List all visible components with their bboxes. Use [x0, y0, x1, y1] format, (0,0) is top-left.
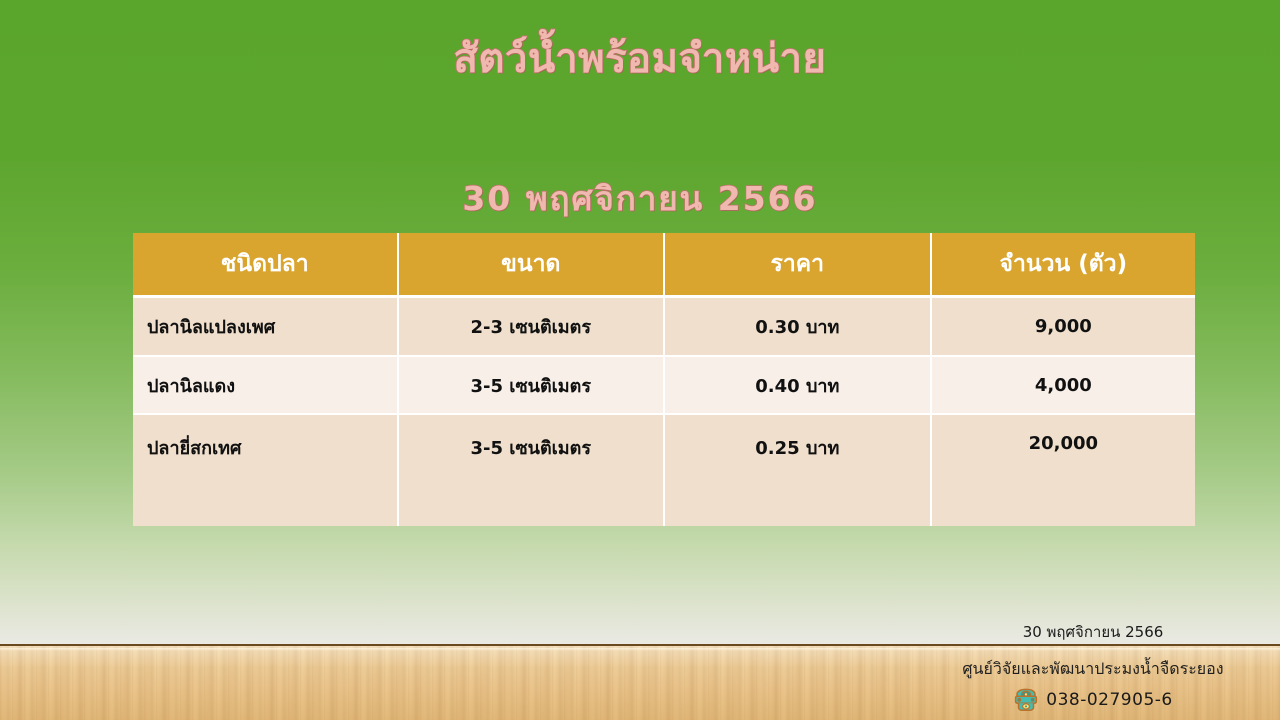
column-header-quantity: จำนวน (ตัว): [932, 233, 1195, 298]
cell-size: 3-5 เซนติเมตร: [399, 415, 666, 526]
cell-quantity: 20,000: [932, 415, 1195, 526]
footer-date: 30 พฤศจิกายน 2566: [928, 620, 1258, 644]
slide-canvas: สัตว์น้ำพร้อมจำหน่าย 30 พฤศจิกายน 2566 ช…: [0, 0, 1280, 720]
cell-price: 0.40 บาท: [665, 357, 932, 415]
cell-species: ปลานิลแดง: [133, 357, 399, 415]
table-row: ปลายี่สกเทศ 3-5 เซนติเมตร 0.25 บาท 20,00…: [133, 415, 1195, 526]
column-header-species: ชนิดปลา: [133, 233, 399, 298]
footer-phone-number: 038-027905-6: [1046, 690, 1172, 710]
cell-quantity: 4,000: [932, 357, 1195, 415]
column-header-price: ราคา: [665, 233, 932, 298]
table-row: ปลานิลแปลงเพศ 2-3 เซนติเมตร 0.30 บาท 9,0…: [133, 298, 1195, 357]
title-block: สัตว์น้ำพร้อมจำหน่าย: [0, 34, 1280, 84]
footer-phone-line: 038-027905-6: [928, 688, 1258, 712]
cell-size: 3-5 เซนติเมตร: [399, 357, 666, 415]
table-header-row: ชนิดปลา ขนาด ราคา จำนวน (ตัว): [133, 233, 1195, 298]
cell-price: 0.25 บาท: [665, 415, 932, 526]
column-header-size: ขนาด: [399, 233, 666, 298]
cell-size: 2-3 เซนติเมตร: [399, 298, 666, 357]
cell-price: 0.30 บาท: [665, 298, 932, 357]
table-header: ชนิดปลา ขนาด ราคา จำนวน (ตัว): [133, 233, 1195, 298]
fish-stock-table-wrapper: ชนิดปลา ขนาด ราคา จำนวน (ตัว) ปลานิลแปลง…: [133, 233, 1195, 526]
page-title: สัตว์น้ำพร้อมจำหน่าย: [0, 34, 1280, 84]
footer-contact-block: ศูนย์วิจัยและพัฒนาประมงน้ำจืดระยอง 038-0…: [928, 657, 1258, 712]
table-row: ปลานิลแดง 3-5 เซนติเมตร 0.40 บาท 4,000: [133, 357, 1195, 415]
cell-quantity: 9,000: [932, 298, 1195, 357]
cell-species: ปลานิลแปลงเพศ: [133, 298, 399, 357]
table-body: ปลานิลแปลงเพศ 2-3 เซนติเมตร 0.30 บาท 9,0…: [133, 298, 1195, 526]
footer-organization: ศูนย์วิจัยและพัฒนาประมงน้ำจืดระยอง: [928, 657, 1258, 682]
telephone-icon: [1013, 688, 1039, 712]
fish-stock-table: ชนิดปลา ขนาด ราคา จำนวน (ตัว) ปลานิลแปลง…: [133, 233, 1195, 526]
cell-species: ปลายี่สกเทศ: [133, 415, 399, 526]
page-subtitle: 30 พฤศจิกายน 2566: [0, 172, 1280, 225]
